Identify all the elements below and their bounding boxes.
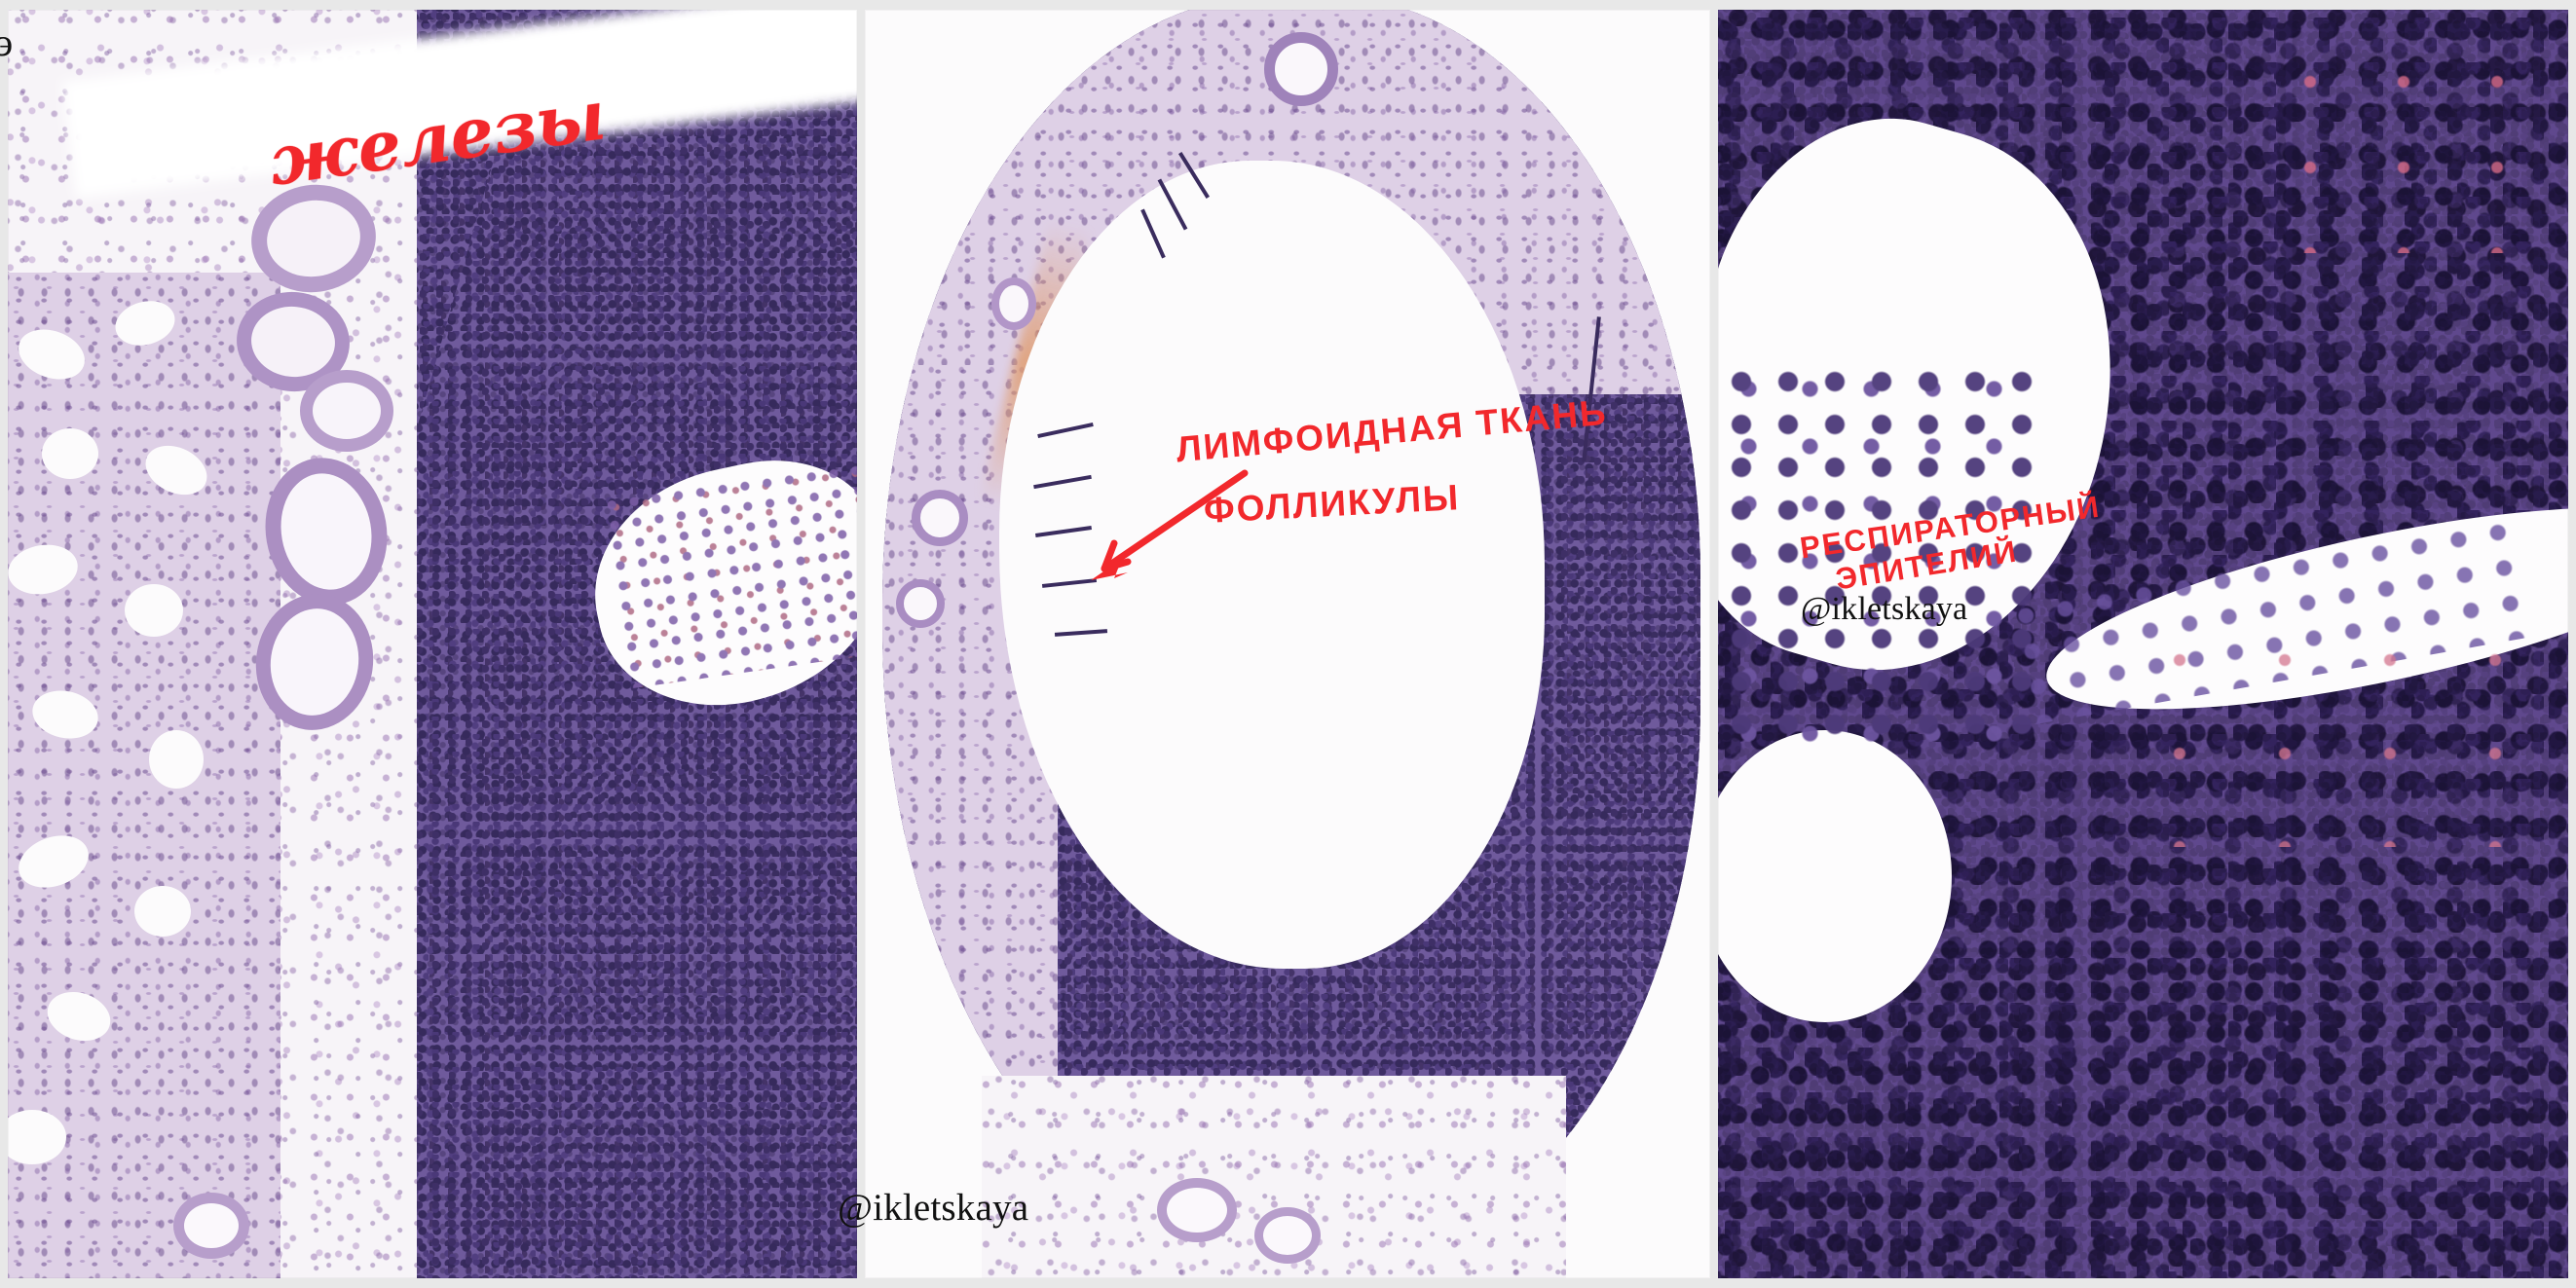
gland-lumen [125,584,183,637]
duct-cross-section [1157,1178,1237,1242]
annotation-arrow [1071,467,1266,594]
left-gland-cluster [8,273,280,1278]
duct-cross-section [1254,1207,1321,1264]
tonsil-ring [882,10,1700,1261]
watermark-middle: @ikletskaya [838,1186,1028,1230]
duct-cross-section [300,370,393,452]
duct-cross-section [173,1193,249,1259]
right-panel [1718,10,2568,1278]
vessel-cross-section [1264,32,1338,106]
middle-panel [865,10,1710,1278]
cell-debris [599,460,857,689]
red-blood-cells [2127,613,2536,847]
vessel-cross-section [991,277,1036,330]
right-panel-slide [1718,10,2568,1278]
scattered-lymphocytes [1718,360,2039,750]
middle-panel-slide [865,10,1710,1278]
gland-lumen [149,730,204,789]
red-blood-cells [2263,39,2568,253]
watermark-right: @ikletskaya [1801,591,1967,628]
left-panel [8,10,857,1278]
gland-lumen [42,428,98,479]
vessel-cross-section [896,579,945,628]
left-panel-slide [8,10,857,1278]
gland-lumen [134,886,191,937]
vessel-cross-section [912,490,968,546]
screenshot-root: железы э [0,0,2576,1288]
clipped-corner-letter: э [0,19,13,65]
